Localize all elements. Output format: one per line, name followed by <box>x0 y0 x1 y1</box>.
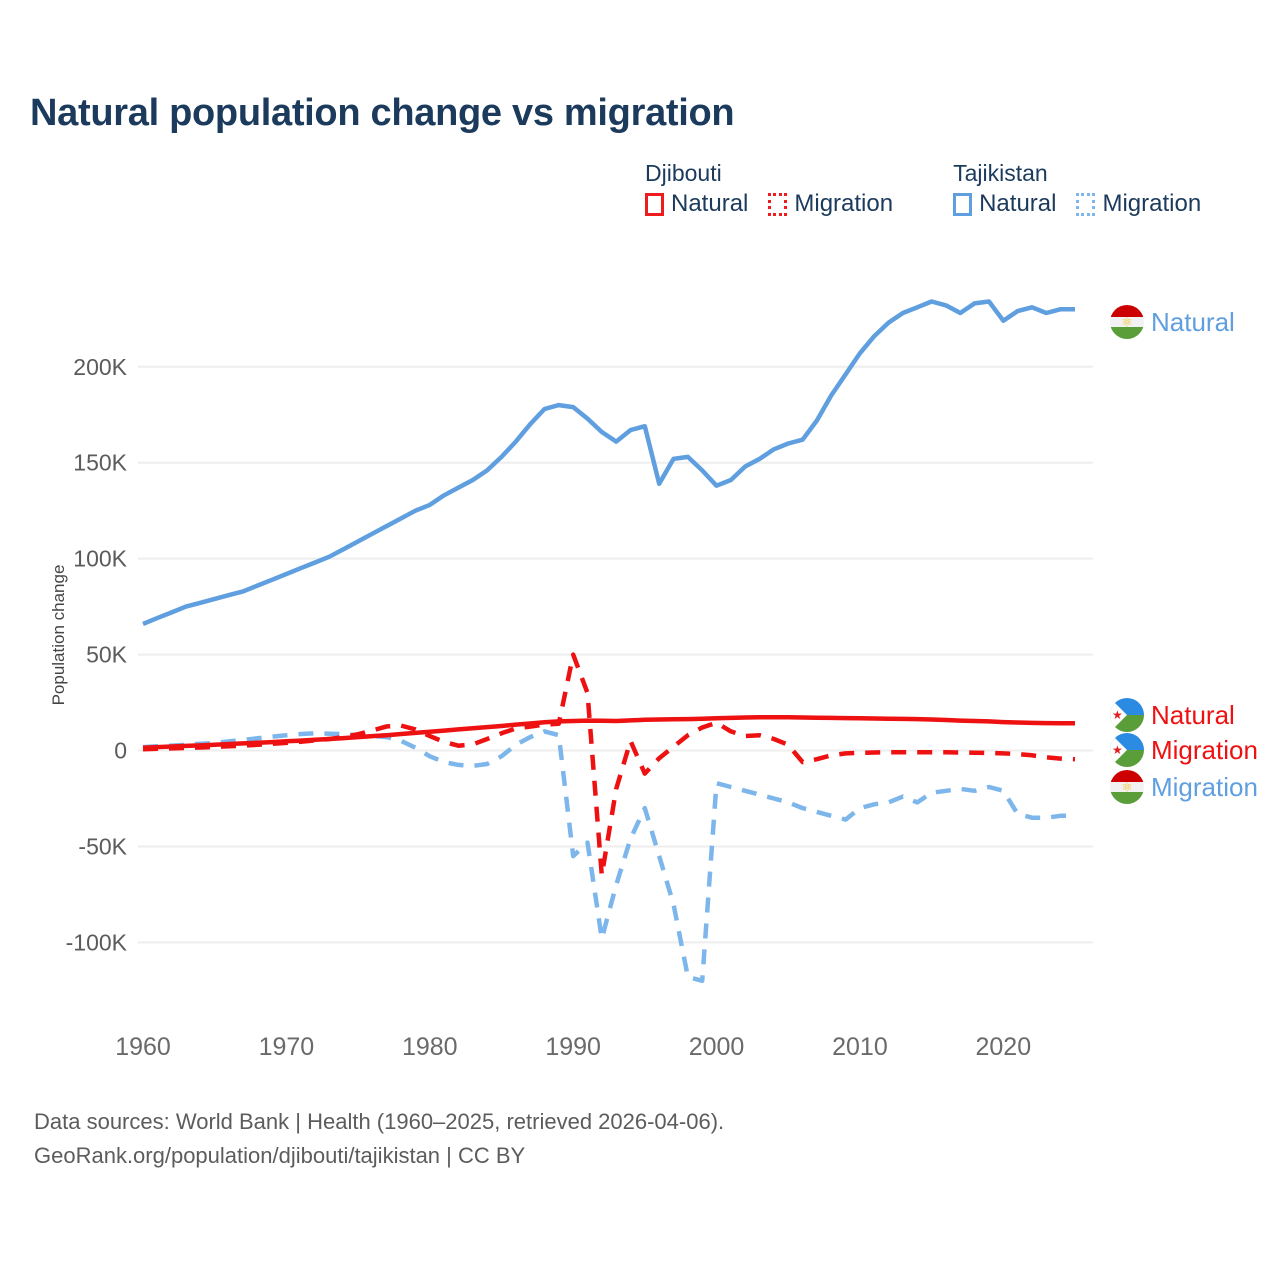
djibouti-flag-icon: ★ <box>1110 733 1144 767</box>
y-axis-tick-label: 100K <box>73 546 127 572</box>
line-chart-plot: -100K-50K050K100K150K200K 19601970198019… <box>0 0 1280 1090</box>
chart-gridlines <box>138 367 1093 943</box>
chart-series-layer <box>143 302 1075 981</box>
x-axis-tick-label: 1990 <box>545 1033 601 1061</box>
end-label-text: Natural <box>1151 702 1235 728</box>
tajikistan-flag-icon: ⚛ <box>1110 305 1144 339</box>
x-axis-tick-label: 1980 <box>402 1033 458 1061</box>
y-axis-tick-label: 50K <box>86 642 128 668</box>
end-label-tajikistan-natural: ⚛ Natural <box>1110 305 1235 339</box>
x-axis-tick-label: 2020 <box>975 1033 1031 1061</box>
y-axis-tick-label: 0 <box>114 738 127 764</box>
x-axis-tick-label: 1970 <box>259 1033 315 1061</box>
footer-line-sources: Data sources: World Bank | Health (1960–… <box>34 1105 724 1139</box>
y-axis-tick-label: -100K <box>66 929 128 955</box>
tajikistan-flag-icon: ⚛ <box>1110 770 1144 804</box>
series-line-djibouti-migration <box>143 655 1075 876</box>
end-label-djibouti-natural: ★ Natural <box>1110 698 1235 732</box>
y-axis-tick-label: 200K <box>73 354 127 380</box>
series-line-djibouti-natural <box>143 717 1075 748</box>
end-label-djibouti-migration: ★ Migration <box>1110 733 1258 767</box>
y-axis-tick-label: -50K <box>78 833 127 859</box>
footer: Data sources: World Bank | Health (1960–… <box>34 1105 724 1173</box>
x-axis-tick-label: 2010 <box>832 1033 888 1061</box>
end-label-text: Migration <box>1151 774 1258 800</box>
y-axis-label: Population change <box>49 565 68 706</box>
y-axis-ticks: -100K-50K050K100K150K200K <box>66 354 128 956</box>
end-label-text: Migration <box>1151 737 1258 763</box>
end-label-tajikistan-migration: ⚛ Migration <box>1110 770 1258 804</box>
djibouti-flag-icon: ★ <box>1110 698 1144 732</box>
chart-page: Natural population change vs migration D… <box>0 0 1280 1280</box>
x-axis-tick-label: 2000 <box>689 1033 745 1061</box>
y-axis-tick-label: 150K <box>73 450 127 476</box>
x-axis-tick-label: 1960 <box>115 1033 171 1061</box>
x-axis-ticks: 1960197019801990200020102020 <box>115 1033 1031 1061</box>
footer-line-attribution: GeoRank.org/population/djibouti/tajikist… <box>34 1139 724 1173</box>
end-label-text: Natural <box>1151 309 1235 335</box>
